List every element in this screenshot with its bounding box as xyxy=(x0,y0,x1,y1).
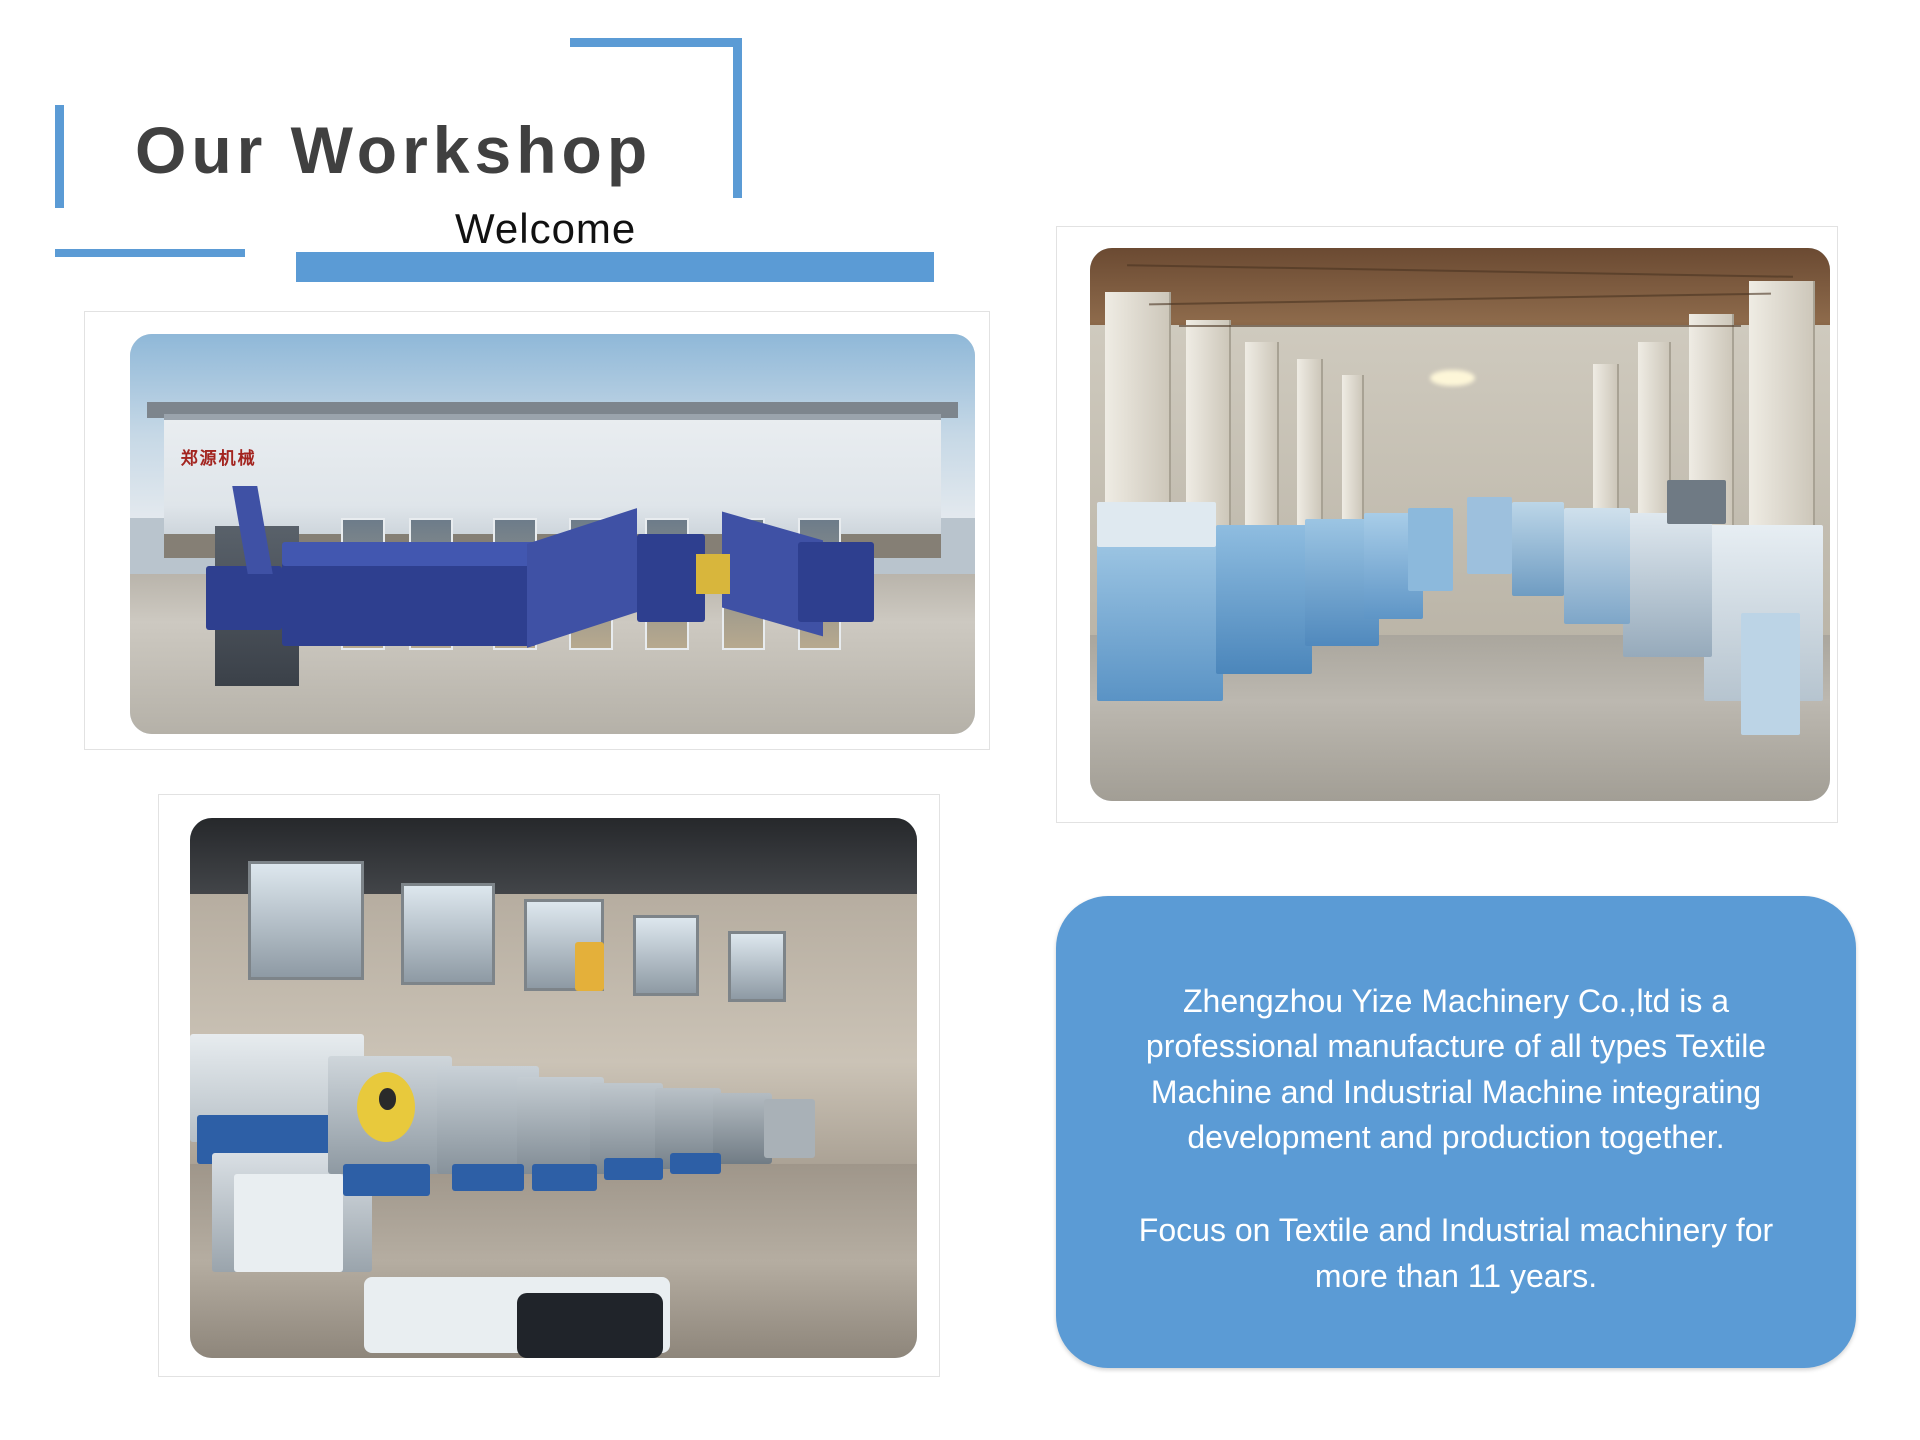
window xyxy=(248,861,364,980)
dark-panel xyxy=(517,1293,662,1358)
machine-dark-top xyxy=(1667,480,1726,524)
title-bracket-top-right-horizontal xyxy=(570,38,742,47)
title-bracket-left-vertical xyxy=(55,105,64,208)
window xyxy=(728,931,786,1001)
machine-right xyxy=(1623,513,1712,657)
photo-workshop-hall xyxy=(1090,248,1830,801)
machine-right xyxy=(1512,502,1564,596)
machine-unit xyxy=(798,542,874,622)
truss xyxy=(1179,325,1741,327)
machine-hopper-lip xyxy=(282,542,536,566)
page-title: Our Workshop xyxy=(135,112,652,188)
machine-left xyxy=(1097,536,1223,702)
hall-light xyxy=(1430,370,1474,387)
wall-poster xyxy=(575,942,604,991)
machine-left-top xyxy=(1097,502,1215,546)
machine-blue-band xyxy=(343,1164,430,1196)
machine-right xyxy=(1564,508,1631,624)
photo-workshop-exterior: 郑源机械 xyxy=(130,334,975,734)
machine-unit xyxy=(206,566,282,630)
title-bracket-right-vertical xyxy=(733,38,742,198)
machine-body xyxy=(764,1099,815,1158)
machine-left xyxy=(1408,508,1452,591)
photo-machine-row xyxy=(190,818,917,1358)
machine-front-right xyxy=(1741,613,1800,735)
slide-canvas: Our Workshop Welcome 郑源机械 xyxy=(0,0,1920,1440)
page-subtitle: Welcome xyxy=(455,205,636,253)
wheel-hub xyxy=(379,1088,396,1110)
title-bracket-bottom-left xyxy=(55,249,245,257)
machine-unit xyxy=(637,534,705,622)
machine-right xyxy=(1467,497,1511,574)
machine-hopper xyxy=(282,558,536,646)
window xyxy=(633,915,698,996)
machine-blue-band xyxy=(452,1164,525,1191)
machine-left xyxy=(1216,525,1312,674)
company-description-box: Zhengzhou Yize Machinery Co.,ltd is a pr… xyxy=(1056,896,1856,1368)
machine-blue-band xyxy=(604,1158,662,1180)
machine-panel xyxy=(234,1174,343,1271)
window xyxy=(401,883,496,986)
building-sign: 郑源机械 xyxy=(181,450,299,486)
company-description-paragraph-1: Zhengzhou Yize Machinery Co.,ltd is a pr… xyxy=(1102,979,1810,1161)
company-description-paragraph-2: Focus on Textile and Industrial machiner… xyxy=(1102,1208,1810,1299)
machine-blue-band xyxy=(670,1153,721,1175)
title-underline-bar xyxy=(296,252,934,282)
machine-body xyxy=(713,1093,771,1163)
machine-panel xyxy=(696,554,730,594)
machine-blue-band xyxy=(532,1164,597,1191)
